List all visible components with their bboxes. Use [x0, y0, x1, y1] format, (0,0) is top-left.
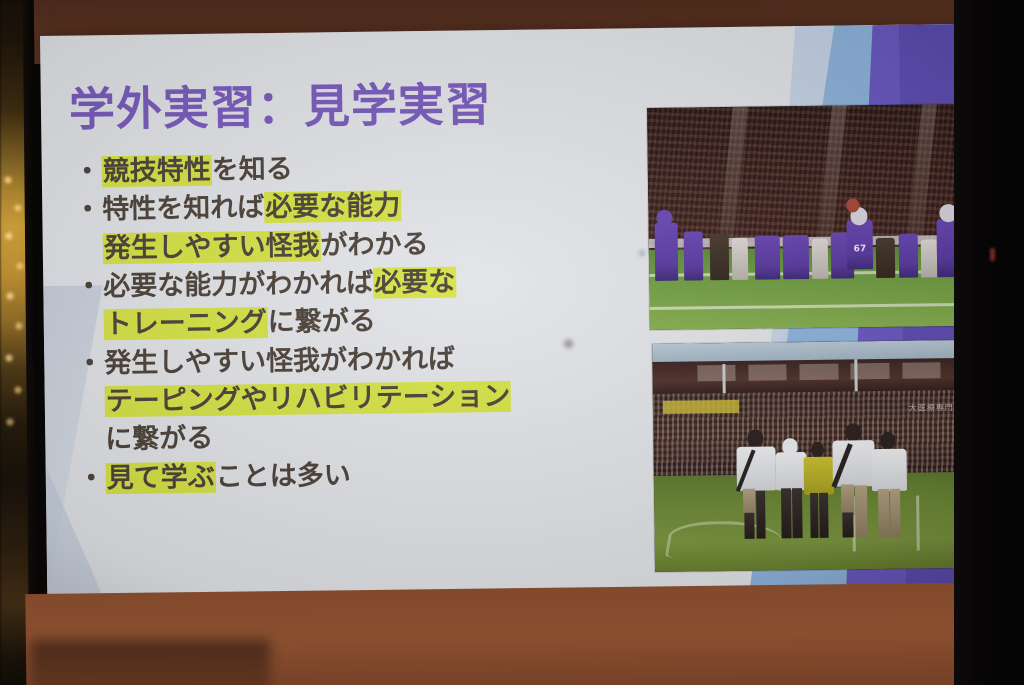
- room-light-speck: [990, 248, 995, 261]
- highlighted-text: 見て学ぶ: [106, 461, 216, 493]
- chandelier-lights-icon: [2, 170, 26, 450]
- highlighted-text: 必要な能力: [264, 191, 401, 224]
- plain-text: ことは多い: [216, 460, 351, 493]
- student-trainer: [868, 432, 911, 537]
- banner-text: 大医療専門: [909, 402, 954, 414]
- bullet-marker-icon: ・: [74, 153, 102, 192]
- bullet-marker-icon: ・: [78, 460, 106, 499]
- football-player-opponent: [732, 238, 749, 280]
- bullet-marker-icon: ・: [76, 345, 104, 384]
- wall-shadow: [30, 640, 270, 685]
- projection-room-photo: 学外実習：見学実習 ・競技特性を知る・特性を知れば必要な能力発生しやすい怪我がわ…: [0, 0, 1024, 685]
- football-player-opponent: [812, 239, 829, 279]
- plain-text: 発生しやすい怪我がわかれば: [104, 343, 455, 379]
- highlighted-text: 発生しやすい怪我: [103, 230, 321, 264]
- football-player: [783, 235, 809, 280]
- lens-dust-speck: [564, 339, 573, 348]
- room-dark-right: [954, 0, 1024, 685]
- student-trainers-stretcher-photo: 大医療専門: [652, 340, 975, 572]
- american-football-game-photo: 67: [647, 104, 970, 330]
- plain-text: 必要な能力がわかれば: [103, 268, 373, 303]
- football-player-opponent: [921, 240, 937, 278]
- helmet-icon: [656, 210, 672, 226]
- highlighted-text: 必要な: [373, 267, 456, 299]
- bullet-marker-icon: ・: [74, 192, 102, 231]
- yellow-banner: [662, 400, 739, 414]
- plain-text: がわかる: [320, 229, 428, 261]
- projected-slide: 学外実習：見学実習 ・競技特性を知る・特性を知れば必要な能力発生しやすい怪我がわ…: [40, 24, 992, 596]
- slide-bullet-list: ・競技特性を知る・特性を知れば必要な能力発生しやすい怪我がわかる・必要な能力がわ…: [74, 146, 658, 499]
- football-player-opponent: [709, 234, 729, 281]
- football-player: [898, 233, 918, 278]
- press-box-window: [748, 364, 787, 380]
- football-player: [754, 235, 780, 280]
- bullet-line: ・見て学ぶことは多い: [78, 453, 658, 499]
- football-player: [684, 232, 704, 281]
- plain-text: 特性を知れば: [102, 192, 264, 225]
- press-box-window: [697, 365, 736, 381]
- football-player-opponent: [876, 238, 896, 278]
- plain-text: に繋がる: [268, 306, 376, 338]
- plain-text: に繋がる: [105, 423, 213, 455]
- jersey-number-label: 67: [854, 244, 867, 254]
- red-cap-spectator: [847, 199, 860, 212]
- highlighted-text: 競技特性: [102, 155, 212, 187]
- press-box-window: [800, 363, 839, 379]
- slide-title: 学外実習：見学実習: [68, 68, 492, 140]
- highlighted-text: テーピングやリハビリテーション: [105, 381, 512, 417]
- press-box-window: [902, 362, 941, 378]
- plain-text: を知る: [212, 154, 293, 186]
- lens-dust-speck: [639, 250, 645, 256]
- bullet-marker-icon: ・: [75, 268, 103, 307]
- highlighted-text: トレーニング: [104, 307, 268, 340]
- football-player: [655, 223, 678, 281]
